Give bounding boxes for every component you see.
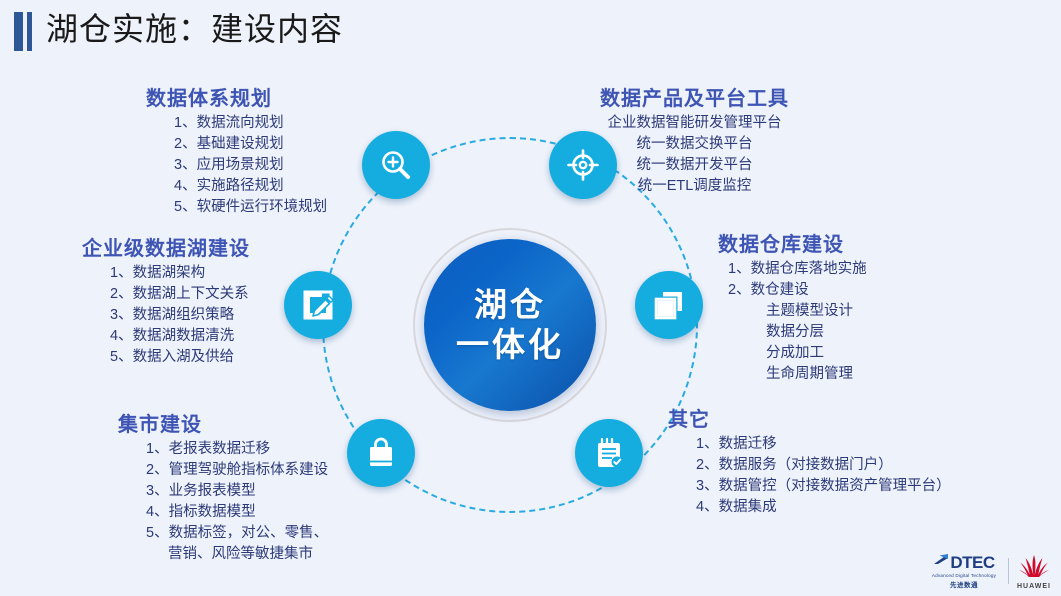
list-item: 3、数据管控（对接数据资产管理平台） — [668, 476, 951, 497]
list-item: 1、数据仓库落地实施 — [700, 259, 867, 280]
block-data-product-lines: 企业数据智能研发管理平台 统一数据交换平台 统一数据开发平台 统一ETL调度监控 — [600, 113, 789, 197]
list-item: 3、业务报表模型 — [118, 481, 328, 502]
huawei-wordmark: HUAWEI — [1017, 583, 1051, 590]
list-item: 2、基础建设规划 — [146, 134, 327, 155]
block-data-product: 数据产品及平台工具 企业数据智能研发管理平台 统一数据交换平台 统一数据开发平台… — [600, 82, 789, 197]
node-other[interactable] — [575, 419, 643, 487]
zoom-in-icon — [378, 147, 414, 183]
block-data-product-title: 数据产品及平台工具 — [600, 82, 789, 111]
block-other: 其它 1、数据迁移 2、数据服务（对接数据门户） 3、数据管控（对接数据资产管理… — [668, 403, 951, 518]
logo-area: DTEC Advanced Digital Technology 先进数通 HU… — [928, 550, 1054, 592]
copy-layers-icon — [652, 288, 686, 322]
node-warehouse[interactable] — [635, 271, 703, 339]
list-item: 4、指标数据模型 — [118, 502, 328, 523]
list-item: 5、数据入湖及供给 — [82, 347, 250, 368]
list-item: 3、数据湖组织策略 — [82, 305, 250, 326]
list-item: 4、数据集成 — [668, 497, 951, 518]
dtec-chinese-name: 先进数通 — [950, 579, 978, 589]
dtec-wordmark: DTEC — [950, 554, 994, 571]
list-item: 1、老报表数据迁移 — [118, 439, 328, 460]
center-hub: 湖仓 一体化 — [424, 239, 596, 411]
list-item: 数据分层 — [700, 322, 867, 343]
list-item: 2、管理驾驶舱指标体系建设 — [118, 460, 328, 481]
block-other-lines: 1、数据迁移 2、数据服务（对接数据门户） 3、数据管控（对接数据资产管理平台）… — [668, 434, 951, 518]
block-data-lake-lines: 1、数据湖架构 2、数据湖上下文关系 3、数据湖组织策略 4、数据湖数据清洗 5… — [82, 263, 250, 368]
dtec-logo: DTEC Advanced Digital Technology 先进数通 — [928, 553, 1000, 589]
notepad-check-icon — [592, 436, 626, 470]
list-item: 5、软硬件运行环境规划 — [146, 197, 327, 218]
list-item: 3、应用场景规划 — [146, 155, 327, 176]
huawei-flower-icon — [1017, 553, 1051, 582]
node-data-system[interactable] — [362, 131, 430, 199]
node-data-lake[interactable] — [284, 271, 352, 339]
list-item: 生命周期管理 — [700, 364, 867, 385]
dtec-arrow-icon — [933, 553, 950, 571]
block-warehouse: 数据仓库建设 1、数据仓库落地实施 2、数仓建设 主题模型设计 数据分层 分成加… — [700, 228, 867, 385]
node-mart[interactable] — [347, 419, 415, 487]
logo-divider — [1008, 558, 1009, 584]
block-mart-title: 集市建设 — [118, 408, 328, 437]
list-item: 2、数据湖上下文关系 — [82, 284, 250, 305]
shopping-bag-icon — [364, 436, 398, 470]
center-hub-line-1: 湖仓 — [474, 285, 546, 325]
list-item: 统一数据交换平台 — [600, 134, 789, 155]
block-data-lake-title: 企业级数据湖建设 — [82, 232, 250, 261]
hub-and-spoke-diagram: 湖仓 一体化 — [0, 0, 1061, 596]
list-item: 主题模型设计 — [700, 301, 867, 322]
list-item: 统一数据开发平台 — [600, 155, 789, 176]
block-mart-lines: 1、老报表数据迁移 2、管理驾驶舱指标体系建设 3、业务报表模型 4、指标数据模… — [118, 439, 328, 565]
list-item: 统一ETL调度监控 — [600, 176, 789, 197]
list-item: 4、实施路径规划 — [146, 176, 327, 197]
block-data-system-lines: 1、数据流向规划 2、基础建设规划 3、应用场景规划 4、实施路径规划 5、软硬… — [146, 113, 327, 218]
block-warehouse-title: 数据仓库建设 — [718, 228, 867, 257]
edit-square-icon — [301, 288, 335, 322]
block-mart: 集市建设 1、老报表数据迁移 2、管理驾驶舱指标体系建设 3、业务报表模型 4、… — [118, 408, 328, 565]
list-item: 1、数据流向规划 — [146, 113, 327, 134]
block-data-system: 数据体系规划 1、数据流向规划 2、基础建设规划 3、应用场景规划 4、实施路径… — [146, 82, 327, 218]
center-hub-line-2: 一体化 — [456, 325, 564, 365]
list-item: 1、数据湖架构 — [82, 263, 250, 284]
list-item: 5、数据标签，对公、零售、 — [118, 523, 328, 544]
block-data-lake: 企业级数据湖建设 1、数据湖架构 2、数据湖上下文关系 3、数据湖组织策略 4、… — [82, 232, 250, 368]
dtec-tagline: Advanced Digital Technology — [932, 573, 996, 578]
list-item-wrap: 营销、风险等敏捷集市 — [118, 544, 328, 565]
list-item: 企业数据智能研发管理平台 — [600, 113, 789, 134]
list-item: 4、数据湖数据清洗 — [82, 326, 250, 347]
list-item: 2、数据服务（对接数据门户） — [668, 455, 951, 476]
target-icon — [565, 147, 601, 183]
list-item: 1、数据迁移 — [668, 434, 951, 455]
block-data-system-title: 数据体系规划 — [146, 82, 327, 111]
list-item: 分成加工 — [700, 343, 867, 364]
block-other-title: 其它 — [668, 403, 951, 432]
huawei-logo: HUAWEI — [1017, 553, 1051, 590]
list-item: 2、数仓建设 — [700, 280, 867, 301]
block-warehouse-lines: 1、数据仓库落地实施 2、数仓建设 主题模型设计 数据分层 分成加工 生命周期管… — [700, 259, 867, 385]
